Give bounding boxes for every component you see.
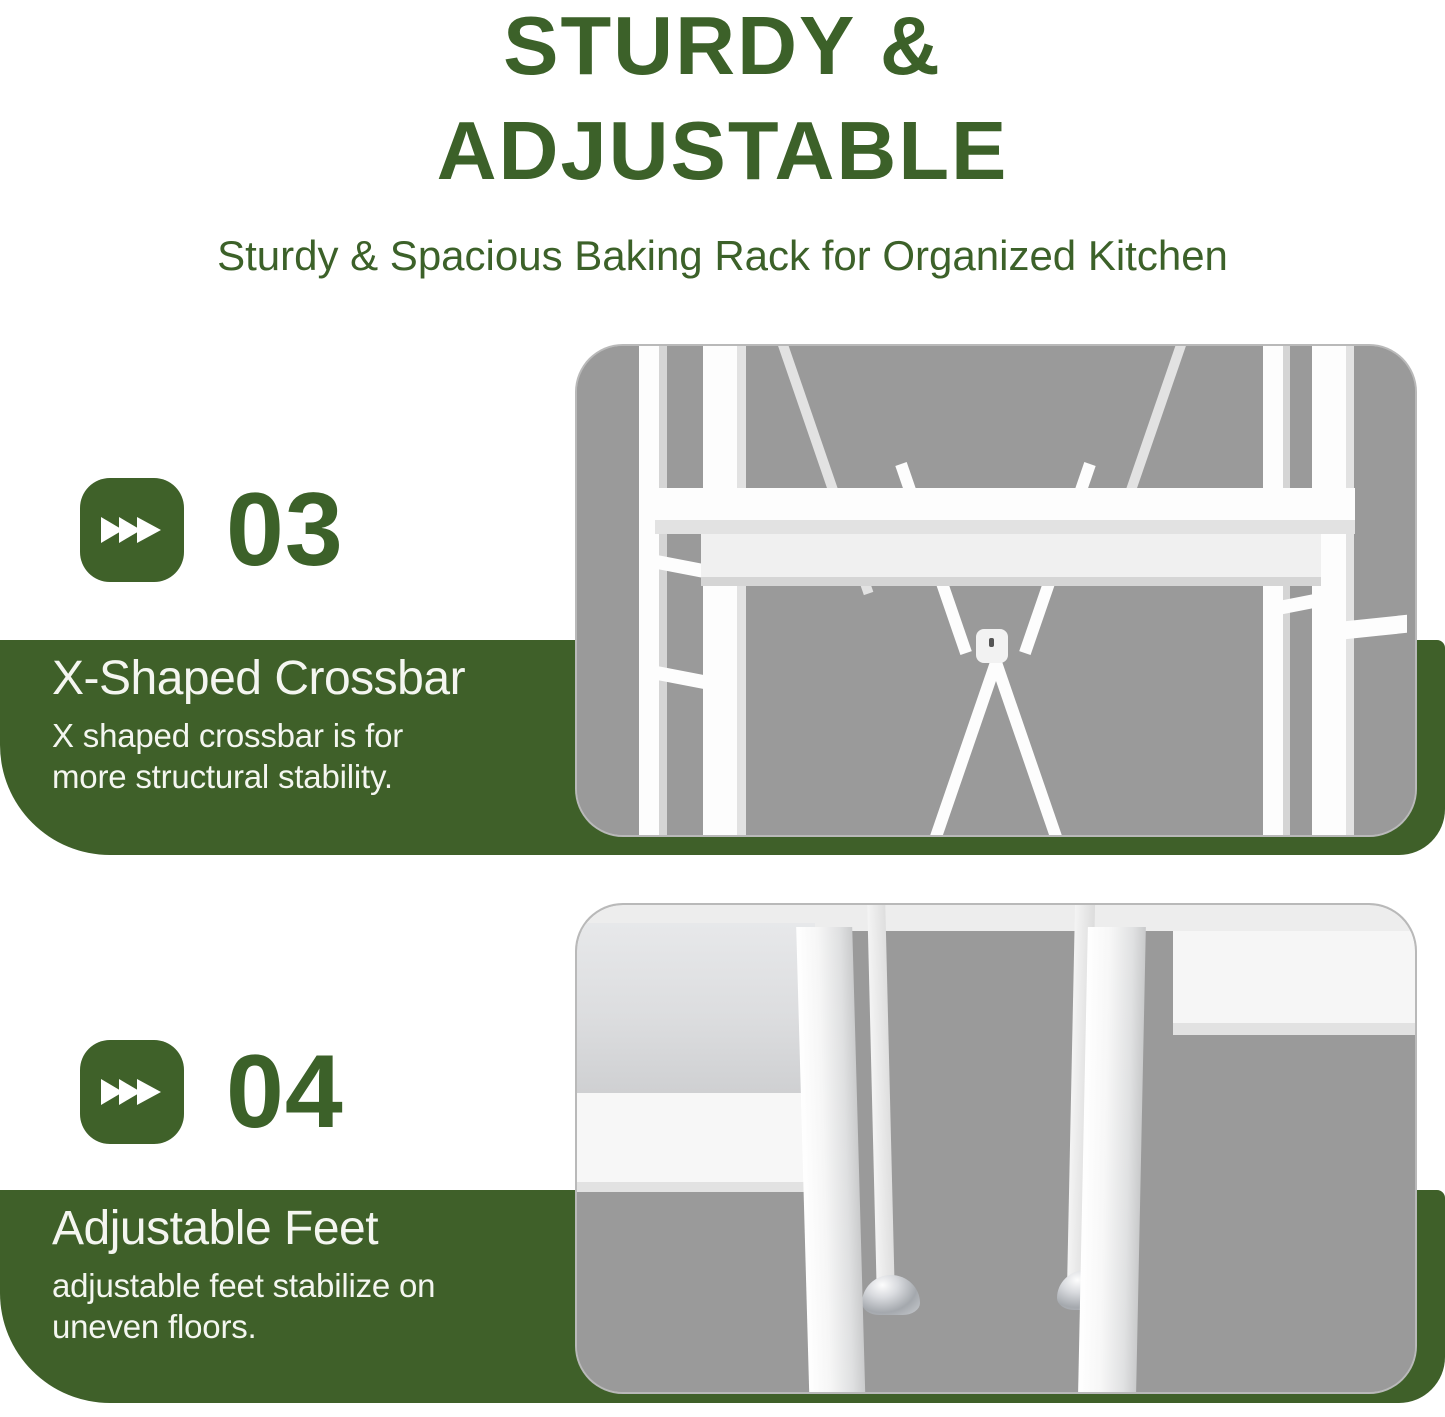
shelf-right-front xyxy=(1173,931,1415,1027)
fast-forward-icon xyxy=(80,1040,184,1144)
feature-description-04-line2: uneven floors. xyxy=(52,1307,572,1347)
feature-photo-04 xyxy=(577,905,1415,1392)
feature-text-04: Adjustable Feet adjustable feet stabiliz… xyxy=(52,1204,572,1347)
shelf-left-front xyxy=(577,1093,815,1189)
feature-description-04-line1: adjustable feet stabilize on xyxy=(52,1266,572,1306)
feature-number-row-04: 04 xyxy=(80,1040,344,1144)
photo-04-scene xyxy=(577,905,1415,1392)
feature-number-04: 04 xyxy=(226,1040,344,1144)
infographic-root: STURDY & ADJUSTABLE Sturdy & Spacious Ba… xyxy=(0,0,1445,1417)
shelf-left-side xyxy=(577,923,815,1093)
feature-description-04: adjustable feet stabilize on uneven floo… xyxy=(52,1266,572,1347)
feature-title-04: Adjustable Feet xyxy=(52,1204,572,1254)
shelf-left-front-edge xyxy=(577,1182,815,1192)
shelf-right-front-edge xyxy=(1173,1023,1415,1035)
feature-block-04: Adjustable Feet adjustable feet stabiliz… xyxy=(0,0,1445,1417)
front-leg-right xyxy=(1076,927,1146,1392)
